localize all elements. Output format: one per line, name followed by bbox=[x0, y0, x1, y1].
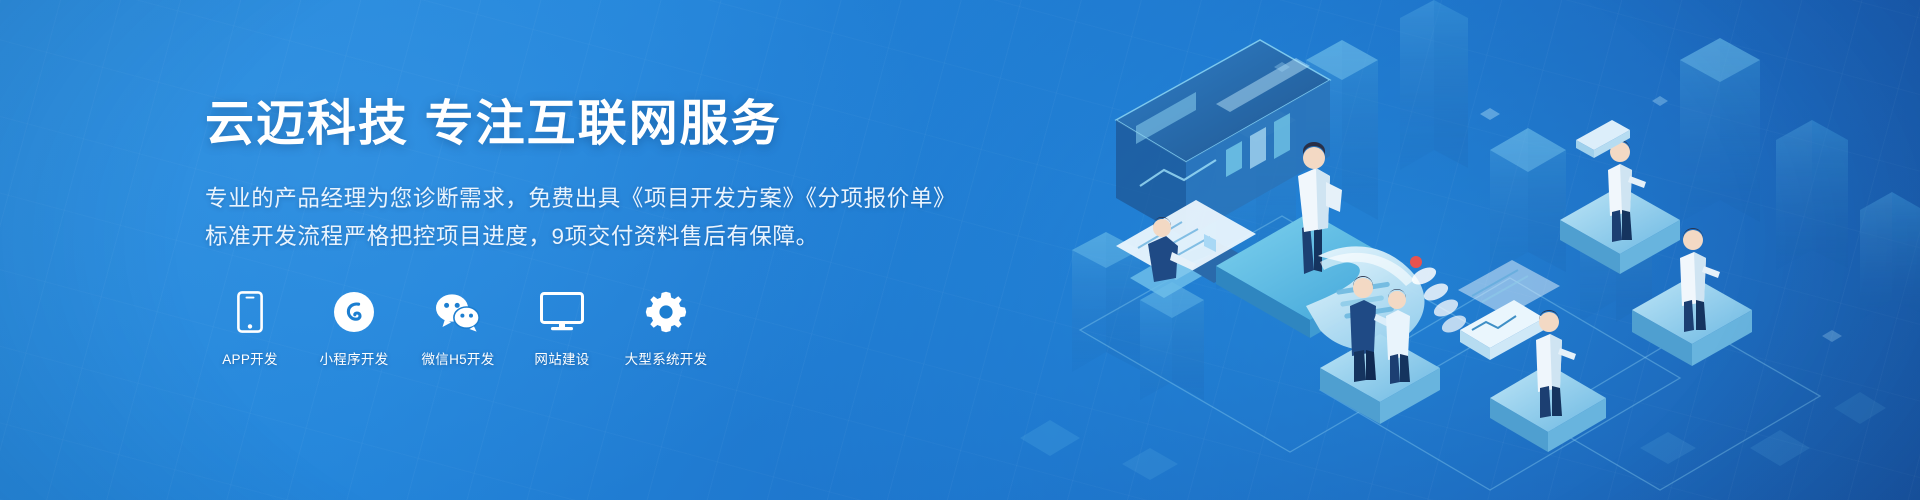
banner-subtitle: 专业的产品经理为您诊断需求，免费出具《项目开发方案》《分项报价单》 标准开发流程… bbox=[205, 180, 985, 257]
service-item-wechat-h5[interactable]: 微信H5开发 bbox=[421, 289, 495, 368]
isometric-team-dashboard-illustration bbox=[1020, 0, 1920, 500]
pedestal-far-right bbox=[1320, 334, 1440, 424]
gear-icon bbox=[645, 289, 687, 335]
monitor-icon bbox=[540, 289, 584, 335]
floor-accent-diamonds bbox=[1020, 392, 1886, 480]
service-label: 大型系统开发 bbox=[625, 348, 708, 368]
subtitle-line-2: 标准开发流程严格把控项目进度，9项交付资料售后有保障。 bbox=[205, 218, 985, 257]
service-item-large-system[interactable]: 大型系统开发 bbox=[629, 289, 703, 368]
floating-ui-panel bbox=[1458, 260, 1560, 316]
subtitle-line-1: 专业的产品经理为您诊断需求，免费出具《项目开发方案》《分项报价单》 bbox=[205, 180, 985, 219]
mobile-phone-icon bbox=[237, 289, 263, 335]
service-label: 小程序开发 bbox=[320, 348, 389, 368]
service-label: APP开发 bbox=[222, 348, 278, 368]
mini-program-icon bbox=[333, 289, 375, 335]
service-label: 网站建设 bbox=[534, 348, 589, 368]
service-item-website[interactable]: 网站建设 bbox=[525, 289, 599, 368]
hero-banner: 云迈科技 专注互联网服务 专业的产品经理为您诊断需求，免费出具《项目开发方案》《… bbox=[0, 0, 1920, 500]
service-label: 微信H5开发 bbox=[421, 348, 494, 368]
banner-content: 云迈科技 专注互联网服务 专业的产品经理为您诊断需求，免费出具《项目开发方案》《… bbox=[205, 0, 985, 500]
service-item-mini-program[interactable]: 小程序开发 bbox=[317, 289, 391, 368]
wechat-icon bbox=[435, 289, 481, 335]
service-list: APP开发 小程序开发 bbox=[205, 289, 985, 368]
service-item-app[interactable]: APP开发 bbox=[213, 289, 287, 368]
page-title: 云迈科技 专注互联网服务 bbox=[205, 98, 985, 152]
